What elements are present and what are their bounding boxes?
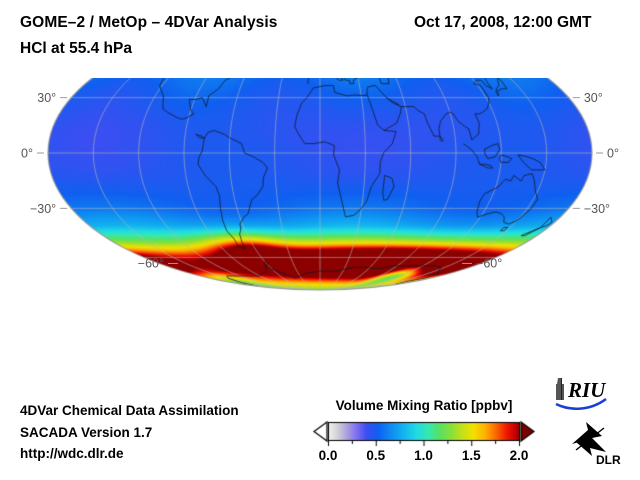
colorbar-tick-label-0: 0.0 — [308, 448, 348, 463]
lat-label-right-0: 30° — [584, 91, 603, 105]
footer-text-block: 4DVar Chemical Data Assimilation SACADA … — [20, 400, 239, 465]
lat-label-inner-right-1: −60° — [476, 256, 502, 270]
lat-label-left-2: −30° — [30, 202, 56, 216]
logo-group: RIUDLR — [552, 374, 636, 466]
logos-svg: RIUDLR — [552, 374, 636, 466]
page-subtitle: HCl at 55.4 hPa — [20, 40, 132, 58]
colorbar-tick-label-4: 2.0 — [499, 448, 539, 463]
page-title: GOME–2 / MetOp – 4DVar Analysis — [20, 14, 278, 32]
lat-label-right-2: −30° — [584, 202, 610, 216]
lat-label-left-1: 0° — [21, 147, 33, 161]
riu-tower-icon — [556, 378, 564, 400]
riu-tower-shade-icon — [561, 378, 562, 400]
lat-label-right-1: 0° — [607, 147, 619, 161]
lat-label-left-0: 30° — [37, 91, 56, 105]
colorbar: Volume Mixing Ratio [ppbv] 0.00.51.01.52… — [312, 398, 536, 474]
world-map: 30°30°0°0°−30°−30°60°60°−60°−60° — [0, 78, 640, 383]
lat-label-inner-left-1: −60° — [138, 256, 164, 270]
colorbar-tick-label-1: 0.5 — [356, 448, 396, 463]
timestamp-label: Oct 17, 2008, 12:00 GMT — [414, 14, 591, 32]
riu-wordmark: RIU — [567, 378, 607, 402]
footer-line-version: SACADA Version 1.7 — [20, 422, 239, 444]
footer-line-url[interactable]: http://wdc.dlr.de — [20, 443, 239, 465]
colorbar-tick-label-2: 1.0 — [404, 448, 444, 463]
footer-line-assimilation: 4DVar Chemical Data Assimilation — [20, 400, 239, 422]
map-labels: 30°30°0°0°−30°−30°60°60°−60°−60° — [0, 78, 640, 383]
colorbar-tick-label-3: 1.5 — [451, 448, 491, 463]
dlr-wordmark: DLR — [596, 453, 621, 466]
